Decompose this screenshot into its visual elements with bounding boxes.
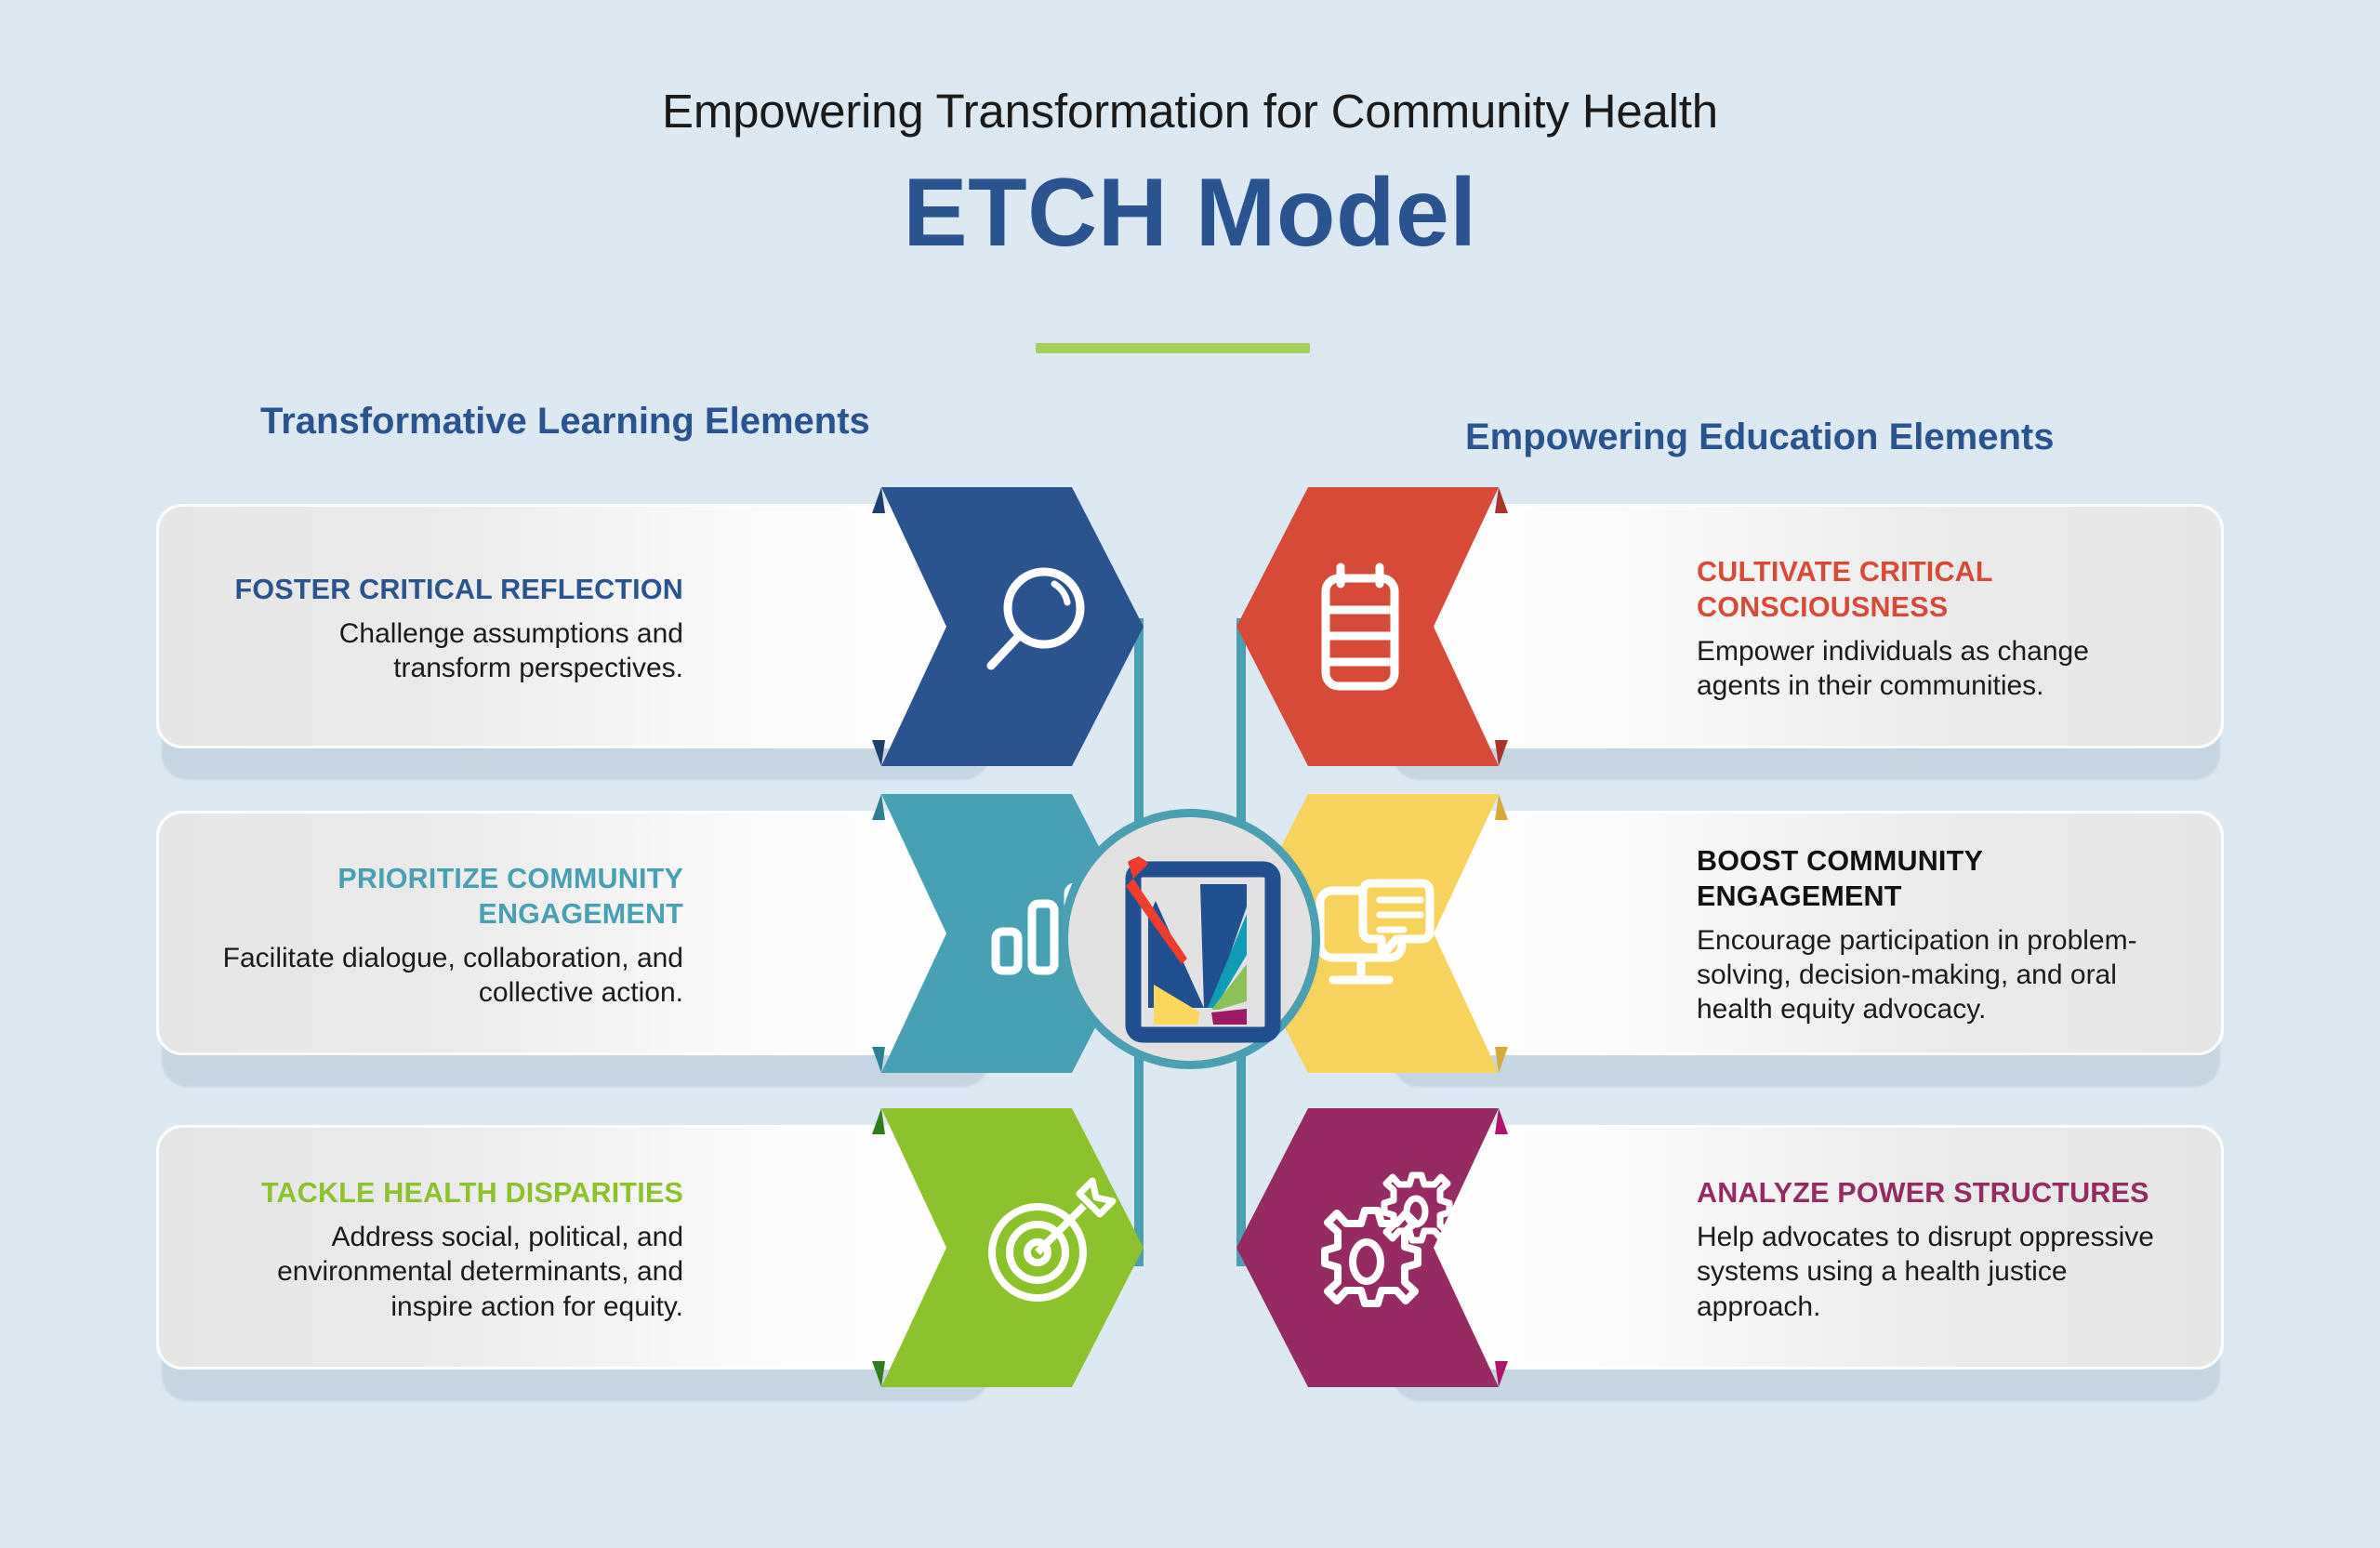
card-title: TACKLE HEALTH DISPARITIES xyxy=(261,1176,683,1211)
page-title: ETCH Model xyxy=(0,158,2380,269)
list-item[interactable]: ANALYZE POWER STRUCTURES Help advocates … xyxy=(1387,1125,2224,1395)
card-title: FOSTER CRITICAL REFLECTION xyxy=(235,573,683,608)
card-text-block: ANALYZE POWER STRUCTURES Help advocates … xyxy=(1697,1128,2176,1369)
list-item[interactable]: BOOST COMMUNITY ENGAGEMENT Encourage par… xyxy=(1387,811,2224,1080)
right-column-heading: Empowering Education Elements xyxy=(1465,417,2054,458)
card-title: PRIORITIZE COMMUNITY ENGAGEMENT xyxy=(215,862,683,933)
infographic-canvas: Empowering Transformation for Community … xyxy=(0,0,2380,1548)
list-item[interactable]: FOSTER CRITICAL REFLECTION Challenge ass… xyxy=(156,504,993,774)
chevron-arrow-right-1 xyxy=(1229,487,1508,766)
list-item[interactable]: TACKLE HEALTH DISPARITIES Address social… xyxy=(156,1125,993,1395)
left-column-heading: Transformative Learning Elements xyxy=(260,401,870,443)
page-subtitle: Empowering Transformation for Community … xyxy=(0,84,2380,139)
card-description: Address social, political, and environme… xyxy=(215,1220,683,1324)
card-text-block: BOOST COMMUNITY ENGAGEMENT Encourage par… xyxy=(1697,814,2176,1055)
card-description: Facilitate dialogue, collaboration, and … xyxy=(215,941,683,1010)
card-text-block: CULTIVATE CRITICAL CONSCIOUSNESS Empower… xyxy=(1697,507,2176,748)
card-description: Empower individuals as change agents in … xyxy=(1697,634,2176,703)
card-panel: CULTIVATE CRITICAL CONSCIOUSNESS Empower… xyxy=(1387,504,2224,748)
card-panel: ANALYZE POWER STRUCTURES Help advocates … xyxy=(1387,1125,2224,1369)
card-panel: BOOST COMMUNITY ENGAGEMENT Encourage par… xyxy=(1387,811,2224,1055)
list-item[interactable]: PRIORITIZE COMMUNITY ENGAGEMENT Facilita… xyxy=(156,811,993,1080)
card-title: BOOST COMMUNITY ENGAGEMENT xyxy=(1697,844,2176,915)
chevron-arrow-left-1 xyxy=(872,487,1151,766)
title-underline-rule xyxy=(1036,343,1310,353)
card-panel: TACKLE HEALTH DISPARITIES Address social… xyxy=(156,1125,993,1369)
card-title: CULTIVATE CRITICAL CONSCIOUSNESS xyxy=(1697,555,2003,626)
book-rays-logo-icon xyxy=(1100,845,1293,1052)
card-description: Encourage participation in problem-solvi… xyxy=(1697,923,2176,1027)
card-panel: PRIORITIZE COMMUNITY ENGAGEMENT Facilita… xyxy=(156,811,993,1055)
card-panel: FOSTER CRITICAL REFLECTION Challenge ass… xyxy=(156,504,993,748)
center-logo-circle xyxy=(1060,809,1320,1069)
card-text-block: TACKLE HEALTH DISPARITIES Address social… xyxy=(215,1128,683,1369)
card-title: ANALYZE POWER STRUCTURES xyxy=(1697,1176,2149,1211)
chevron-arrow-right-3 xyxy=(1229,1108,1508,1387)
card-description: Help advocates to disrupt oppressive sys… xyxy=(1697,1220,2176,1324)
list-item[interactable]: CULTIVATE CRITICAL CONSCIOUSNESS Empower… xyxy=(1387,504,2224,774)
chevron-arrow-left-3 xyxy=(872,1108,1151,1387)
card-description: Challenge assumptions and transform pers… xyxy=(215,616,683,685)
card-text-block: PRIORITIZE COMMUNITY ENGAGEMENT Facilita… xyxy=(215,814,683,1055)
card-text-block: FOSTER CRITICAL REFLECTION Challenge ass… xyxy=(215,507,683,748)
